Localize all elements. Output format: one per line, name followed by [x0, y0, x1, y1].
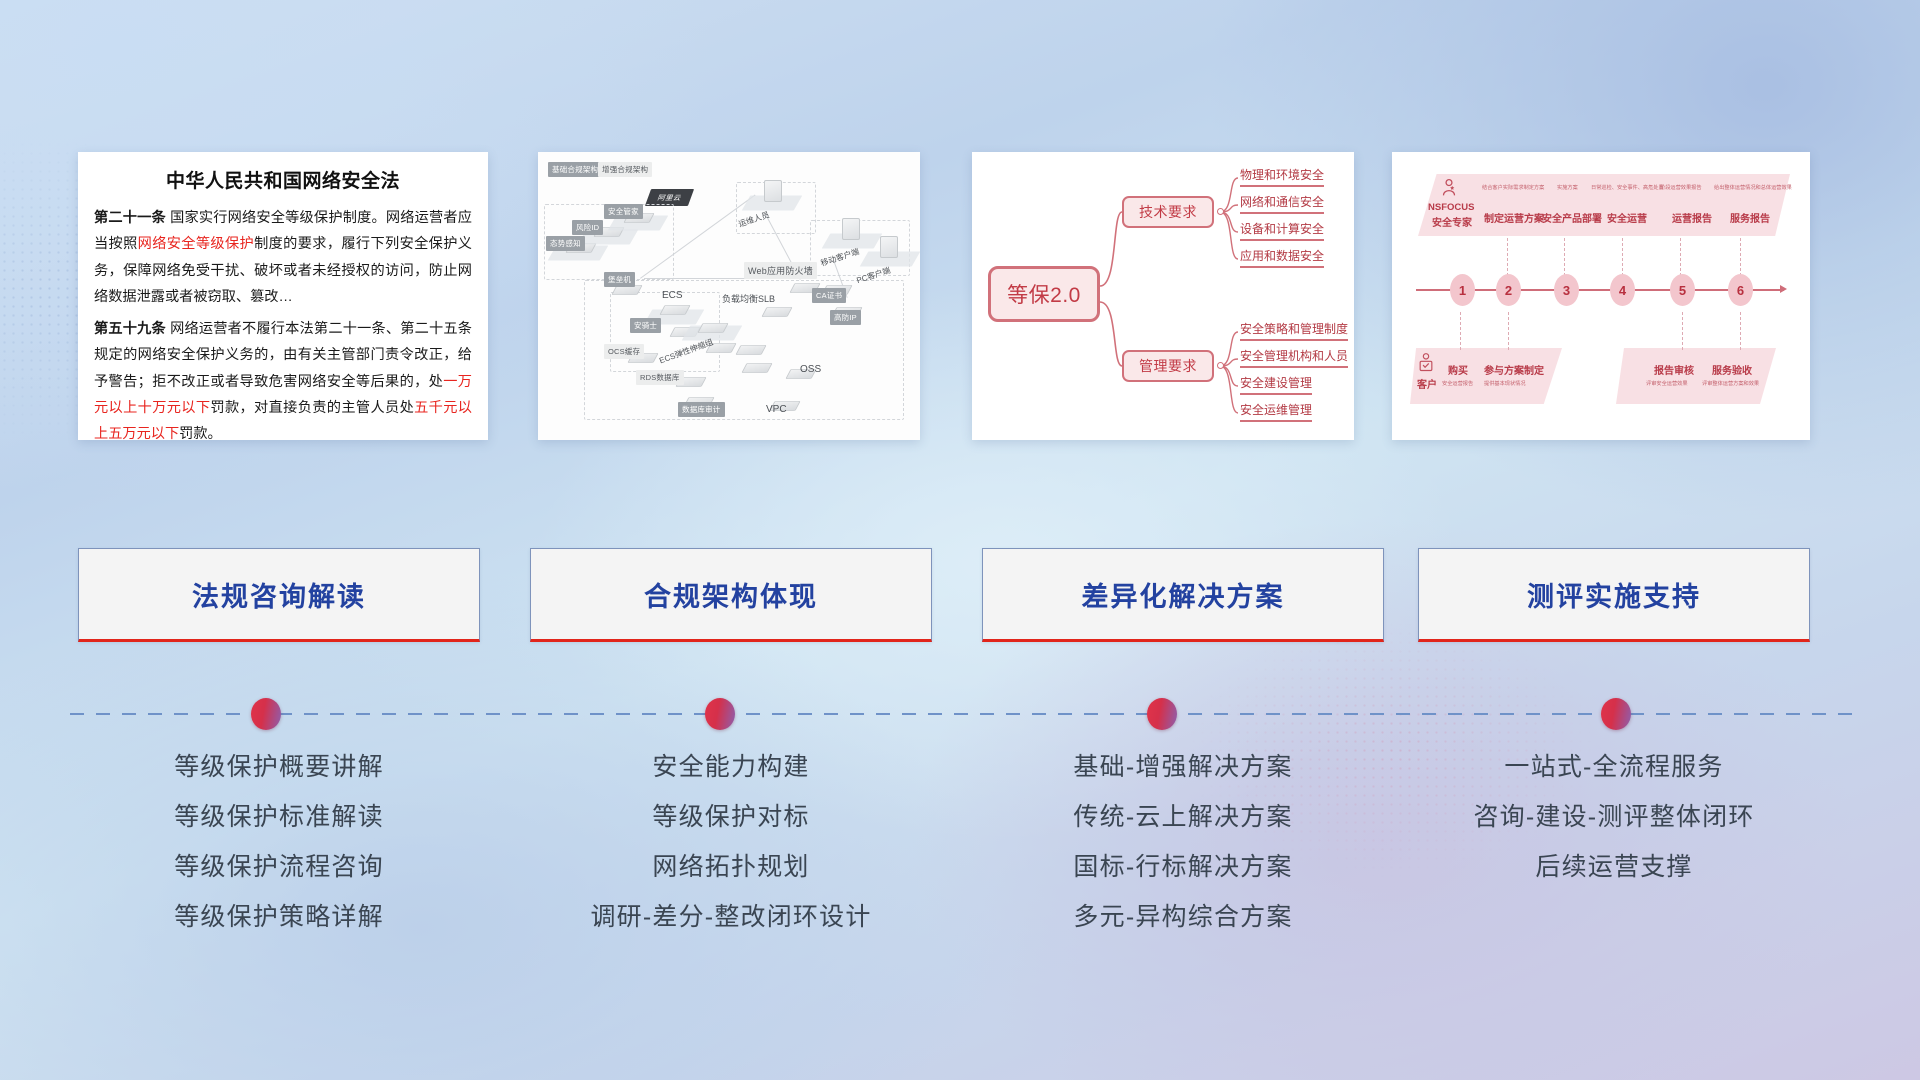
- section-heading-row: 法规咨询解读 合规架构体现 差异化解决方案 测评实施支持: [0, 548, 1920, 644]
- mindmap-branch-management[interactable]: 管理要求: [1122, 350, 1214, 382]
- list-item: 等级保护标准解读: [78, 792, 480, 842]
- list-item: 咨询-建设-测评整体闭环: [1418, 792, 1810, 842]
- mindmap-leaf: 应用和数据安全: [1240, 249, 1324, 268]
- heading-box-differentiated-solution[interactable]: 差异化解决方案: [982, 548, 1384, 642]
- security-expert-person-icon: [1438, 178, 1460, 200]
- arch-label-ca-cert: CA证书: [812, 288, 846, 303]
- mindmap-leaf: 安全建设管理: [1240, 376, 1312, 395]
- arch-node: [659, 305, 690, 315]
- arch-node: [761, 307, 792, 317]
- arch-label-waf: Web应用防火墙: [744, 262, 817, 279]
- nsfocus-leader-line: [1508, 312, 1509, 350]
- nsfocus-bottom-main: 购买: [1448, 362, 1468, 377]
- nsfocus-bottom-sub: 提供基本现状情况: [1484, 380, 1526, 387]
- mindmap-leaf: 安全运维管理: [1240, 403, 1312, 422]
- arch-node: [741, 363, 772, 373]
- heading-box-regulation-consulting[interactable]: 法规咨询解读: [78, 548, 480, 642]
- nsfocus-step-node-4[interactable]: 4: [1610, 274, 1635, 306]
- customer-person-icon: [1416, 352, 1436, 374]
- mindmap-leaf: 物理和环境安全: [1240, 168, 1324, 187]
- nsfocus-leader-line: [1622, 238, 1623, 276]
- list-item: 等级保护流程咨询: [78, 842, 480, 892]
- arch-tab-basic[interactable]: 基础合规架构: [548, 162, 602, 177]
- timeline-dot-4[interactable]: [1601, 698, 1631, 730]
- nsfocus-step-node-6[interactable]: 6: [1728, 274, 1753, 306]
- nsfocus-leader-line: [1680, 238, 1681, 276]
- nsfocus-top-main: 安全产品部署: [1542, 210, 1602, 225]
- nsfocus-leader-line: [1507, 238, 1508, 276]
- nsfocus-top-main: 制定运营方案: [1484, 210, 1544, 225]
- heading-label: 法规咨询解读: [192, 575, 366, 614]
- nsfocus-bottom-sub: 安全运营报告: [1442, 380, 1473, 387]
- nsfocus-top-sub: 实施方案: [1557, 184, 1578, 191]
- arch-node-server: [880, 236, 898, 258]
- nsfocus-top-sub: 日常巡检、安全事件、高危处置: [1591, 184, 1664, 191]
- law-text-seg: 罚款。: [179, 426, 222, 440]
- heading-box-compliance-architecture[interactable]: 合规架构体现: [530, 548, 932, 642]
- nsfocus-bottom-main: 报告审核: [1654, 362, 1694, 377]
- list-item: 国标-行标解决方案: [982, 842, 1384, 892]
- heading-box-assessment-support[interactable]: 测评实施支持: [1418, 548, 1810, 642]
- list-item: 安全能力构建: [530, 742, 932, 792]
- mindmap-root-node[interactable]: 等保2.0: [988, 266, 1100, 322]
- list-item: 等级保护概要讲解: [78, 742, 480, 792]
- heading-label: 测评实施支持: [1527, 575, 1701, 614]
- card-compliance-architecture[interactable]: 基础合规架构 增强合规架构 阿里云: [538, 152, 920, 440]
- nsfocus-top-main: 运营报告: [1672, 210, 1712, 225]
- nsfocus-top-main: 安全运营: [1607, 210, 1647, 225]
- arch-label-security-butler: 安全管家: [604, 204, 643, 219]
- nsfocus-bottom-sub: 评审安全运营效果: [1646, 380, 1688, 387]
- architecture-diagram: 基础合规架构 增强合规架构 阿里云: [538, 152, 920, 440]
- mindmap: 等保2.0 技术要求 物理和环境安全 网络和通信安全 设备和计算安全 应用和数据…: [972, 152, 1354, 440]
- arch-label-bastion-host: 堡垒机: [604, 272, 635, 287]
- nsfocus-step-node-2[interactable]: 2: [1496, 274, 1521, 306]
- preview-card-row: 中华人民共和国网络安全法 第二十一条 国家实行网络安全等级保护制度。网络运营者应…: [0, 152, 1920, 442]
- detail-list-assessment-support: 一站式-全流程服务 咨询-建设-测评整体闭环 后续运营支撑: [1418, 742, 1810, 892]
- law-article-number: 第五十九条: [94, 321, 166, 337]
- nsfocus-leader-line: [1564, 238, 1565, 276]
- mindmap-leaf: 安全管理机构和人员: [1240, 349, 1348, 368]
- list-item: 网络拓扑规划: [530, 842, 932, 892]
- detail-list-differentiated-solution: 基础-增强解决方案 传统-云上解决方案 国标-行标解决方案 多元-异构综合方案: [982, 742, 1384, 942]
- list-item: 一站式-全流程服务: [1418, 742, 1810, 792]
- list-item: 等级保护对标: [530, 792, 932, 842]
- nsfocus-bottom-sub: 评审整体运营方案和效果: [1702, 380, 1759, 387]
- law-paragraph-59: 第五十九条 网络运营者不履行本法第二十一条、第二十五条规定的网络安全保护义务的，…: [94, 316, 472, 440]
- nsfocus-customer-title: 客户: [1417, 376, 1437, 391]
- nsfocus-step-node-1[interactable]: 1: [1450, 274, 1475, 306]
- timeline-dashed-line: [70, 713, 1852, 715]
- law-document: 中华人民共和国网络安全法 第二十一条 国家实行网络安全等级保护制度。网络运营者应…: [78, 152, 488, 440]
- arch-label-db-audit: 数据库审计: [678, 402, 725, 417]
- nsfocus-step-node-5[interactable]: 5: [1670, 274, 1695, 306]
- law-paragraph-21: 第二十一条 国家实行网络安全等级保护制度。网络运营者应当按照网络安全等级保护制度…: [94, 205, 472, 310]
- timeline-dot-1[interactable]: [251, 698, 281, 730]
- arch-label-slb: 负载均衡SLB: [722, 292, 775, 305]
- arch-label-anti-ddos-ip: 高防IP: [830, 310, 861, 325]
- timeline-dot-2[interactable]: [705, 698, 735, 730]
- detail-list-regulation-consulting: 等级保护概要讲解 等级保护标准解读 等级保护流程咨询 等级保护策略详解: [78, 742, 480, 942]
- nsfocus-bottom-main: 参与方案制定: [1484, 362, 1544, 377]
- arch-node-server: [764, 180, 782, 202]
- list-item: 后续运营支撑: [1418, 842, 1810, 892]
- law-title: 中华人民共和国网络安全法: [94, 166, 472, 193]
- list-item: 多元-异构综合方案: [982, 892, 1384, 942]
- arch-label-risk-id: 风险ID: [572, 220, 603, 235]
- nsfocus-bottom-main: 服务验收: [1712, 362, 1752, 377]
- arch-label-rds-db: RDS数据库: [636, 370, 684, 385]
- mindmap-branch-technical[interactable]: 技术要求: [1122, 196, 1214, 228]
- arch-label-anqishi: 安骑士: [630, 318, 661, 333]
- list-item: 调研-差分-整改闭环设计: [530, 892, 932, 942]
- list-item: 等级保护策略详解: [78, 892, 480, 942]
- heading-label: 合规架构体现: [644, 575, 818, 614]
- arch-node: [735, 345, 766, 355]
- card-mindmap-dengbao[interactable]: 等保2.0 技术要求 物理和环境安全 网络和通信安全 设备和计算安全 应用和数据…: [972, 152, 1354, 440]
- nsfocus-leader-line: [1682, 312, 1683, 350]
- mindmap-collapse-dot-icon[interactable]: [1217, 208, 1224, 215]
- timeline-dot-3[interactable]: [1147, 698, 1177, 730]
- list-item: 基础-增强解决方案: [982, 742, 1384, 792]
- timeline-connector: [0, 694, 1920, 734]
- law-article-number: 第二十一条: [94, 210, 166, 226]
- nsfocus-timeline: NSFOCUS 安全专家 结合客户实际需求制定方案 制定运营方案 实施方案 安全…: [1392, 152, 1810, 440]
- arch-label-ocs-cache: OCS缓存: [604, 344, 644, 359]
- arch-label-situational-awareness: 态势感知: [546, 236, 585, 251]
- nsfocus-leader-line: [1460, 312, 1461, 350]
- nsfocus-top-main: 服务报告: [1730, 210, 1770, 225]
- arch-label-oss: OSS: [800, 364, 821, 375]
- arch-tab-enhanced[interactable]: 增强合规架构: [598, 162, 652, 177]
- card-cybersecurity-law[interactable]: 中华人民共和国网络安全法 第二十一条 国家实行网络安全等级保护制度。网络运营者应…: [78, 152, 488, 440]
- nsfocus-top-sub: 给出整体运营情况和总体运营效果: [1714, 184, 1792, 191]
- nsfocus-top-sub: 结合客户实际需求制定方案: [1482, 184, 1544, 191]
- arch-node-server: [842, 218, 860, 240]
- detail-list-row: 等级保护概要讲解 等级保护标准解读 等级保护流程咨询 等级保护策略详解 安全能力…: [0, 742, 1920, 1002]
- nsfocus-leader-line: [1740, 312, 1741, 350]
- law-text-seg: 罚款，对直接负责的主管人员处: [210, 400, 414, 416]
- nsfocus-bottom-band-right: [1616, 348, 1776, 404]
- nsfocus-expert-title: 安全专家: [1432, 214, 1472, 229]
- card-nsfocus-service-flow[interactable]: NSFOCUS 安全专家 结合客户实际需求制定方案 制定运营方案 实施方案 安全…: [1392, 152, 1810, 440]
- mindmap-leaf: 安全策略和管理制度: [1240, 322, 1348, 341]
- nsfocus-step-node-3[interactable]: 3: [1554, 274, 1579, 306]
- mindmap-collapse-dot-icon[interactable]: [1217, 362, 1224, 369]
- law-text-seg-highlight: 网络安全等级保护: [138, 236, 254, 252]
- mindmap-leaf: 网络和通信安全: [1240, 195, 1324, 214]
- arch-label-ecs: ECS: [662, 290, 683, 301]
- list-item: 传统-云上解决方案: [982, 792, 1384, 842]
- nsfocus-leader-line: [1740, 238, 1741, 276]
- arch-label-vpc: VPC: [766, 404, 787, 415]
- detail-list-compliance-architecture: 安全能力构建 等级保护对标 网络拓扑规划 调研-差分-整改闭环设计: [530, 742, 932, 942]
- arch-node: [697, 323, 728, 333]
- nsfocus-top-sub: 阶段运营效果报告: [1660, 184, 1702, 191]
- nsfocus-axis-arrow-icon: [1780, 285, 1787, 293]
- heading-label: 差异化解决方案: [1082, 575, 1285, 614]
- mindmap-leaf: 设备和计算安全: [1240, 222, 1324, 241]
- nsfocus-brand-label: NSFOCUS: [1428, 202, 1474, 213]
